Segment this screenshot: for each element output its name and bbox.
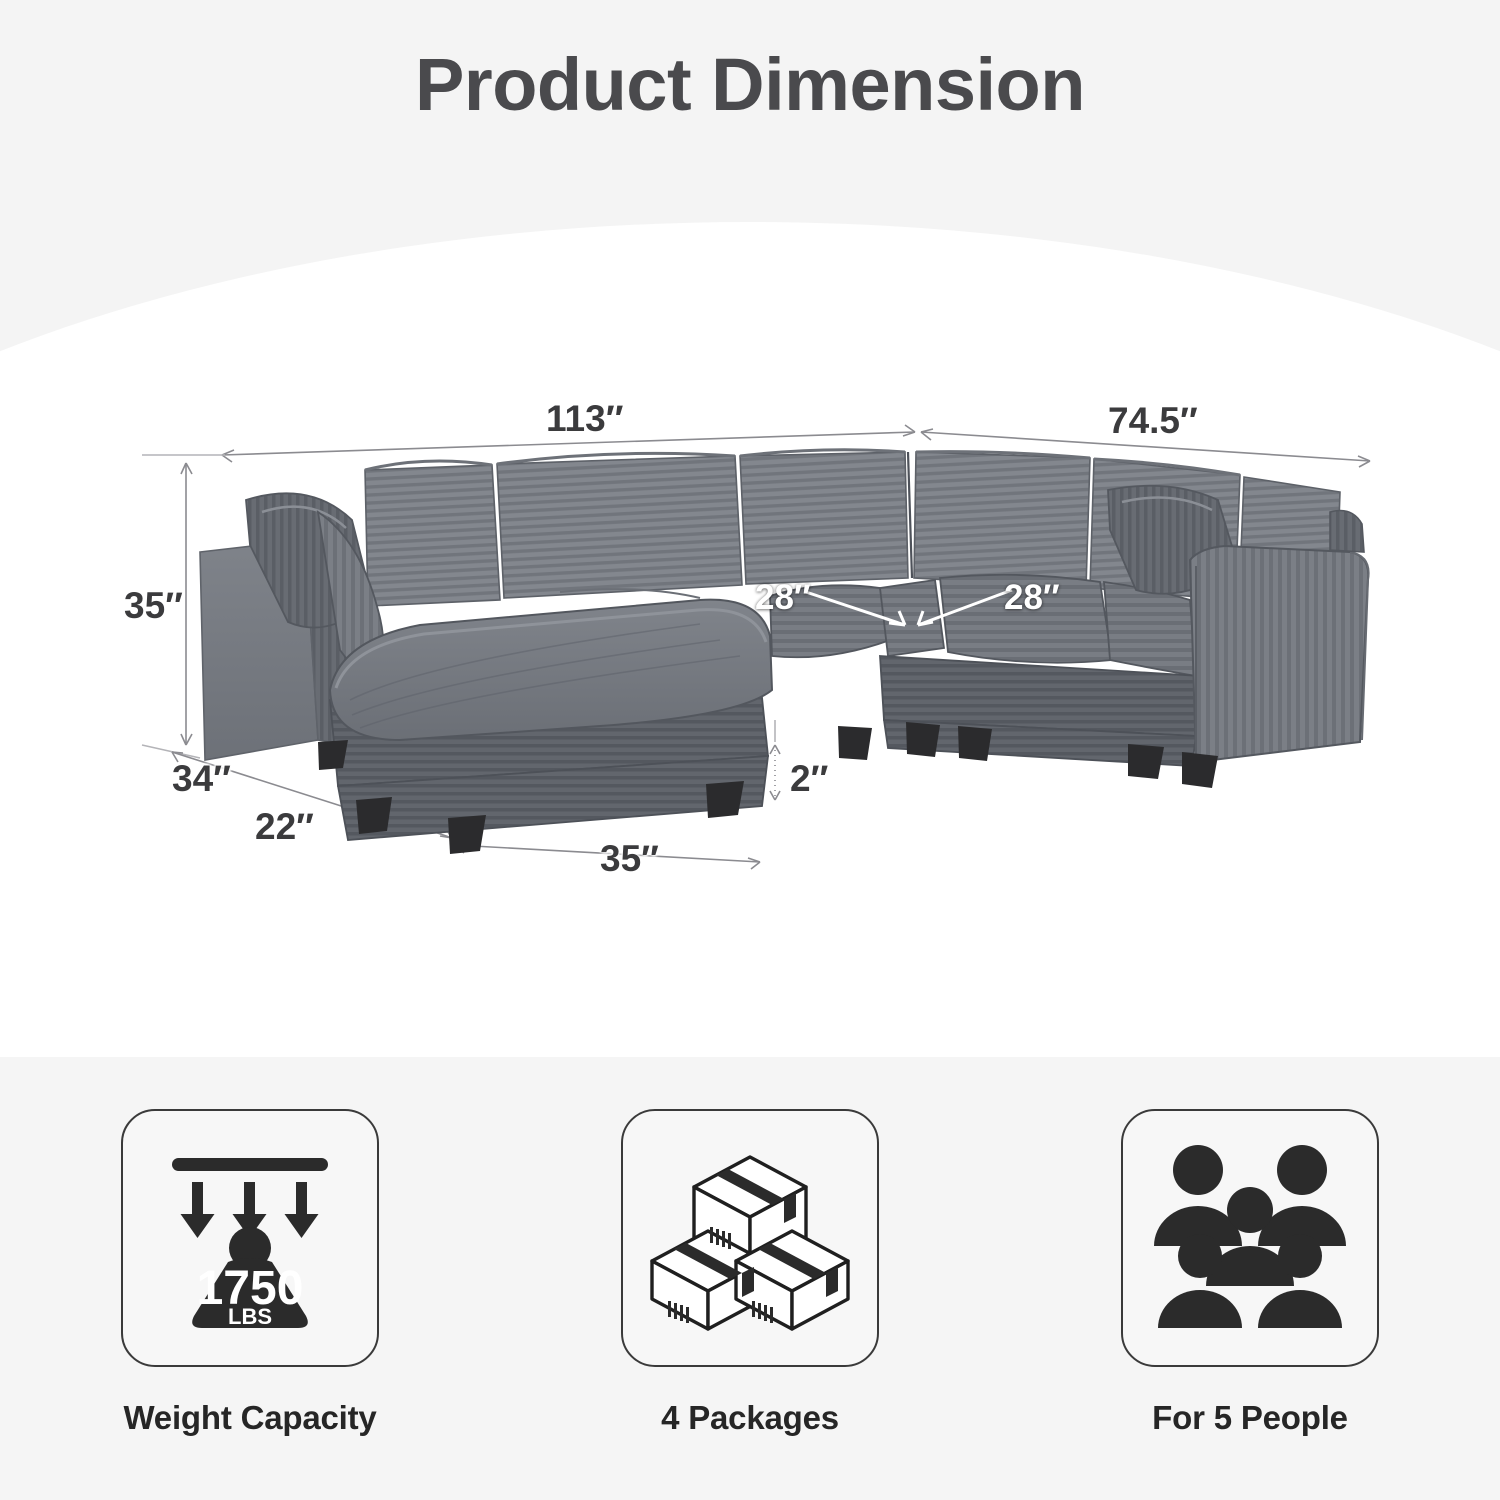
dimension-label-seat-depth-left: 28″ — [755, 578, 811, 618]
sofa-body — [200, 450, 1369, 854]
dimension-label-ottoman-width: 35″ — [600, 838, 659, 880]
dimension-label-seat-depth-right: 28″ — [1004, 578, 1060, 618]
diagram-section: Product Dimension — [0, 0, 1500, 1057]
dimension-label-overall-depth-right: 74.5″ — [1108, 400, 1198, 442]
features-section: 1750 LBS Weight Capacity — [0, 1057, 1500, 1500]
feature-people: For 5 People — [1050, 1109, 1450, 1437]
weight-capacity-icon-box: 1750 LBS — [121, 1109, 379, 1367]
dimension-label-overall-width: 113″ — [546, 398, 623, 440]
feature-packages: 4 Packages — [550, 1109, 950, 1437]
dimension-label-arm-width: 22″ — [255, 806, 314, 848]
people-icon — [1152, 1140, 1348, 1336]
feature-label-weight-capacity: Weight Capacity — [123, 1399, 376, 1437]
people-icon-box — [1121, 1109, 1379, 1367]
dimension-label-overall-height: 35″ — [124, 585, 183, 627]
weight-capacity-icon: 1750 LBS — [150, 1138, 350, 1338]
sofa-illustration — [0, 0, 1500, 1057]
feature-label-packages: 4 Packages — [661, 1399, 839, 1437]
feature-weight-capacity: 1750 LBS Weight Capacity — [50, 1109, 450, 1437]
feature-label-people: For 5 People — [1152, 1399, 1348, 1437]
weight-unit: LBS — [228, 1304, 272, 1329]
packages-icon — [650, 1143, 850, 1333]
dimension-label-side-depth: 34″ — [172, 758, 231, 800]
product-dimension-infographic: Product Dimension — [0, 0, 1500, 1500]
dimension-label-leg-height: 2″ — [790, 758, 828, 800]
packages-icon-box — [621, 1109, 879, 1367]
